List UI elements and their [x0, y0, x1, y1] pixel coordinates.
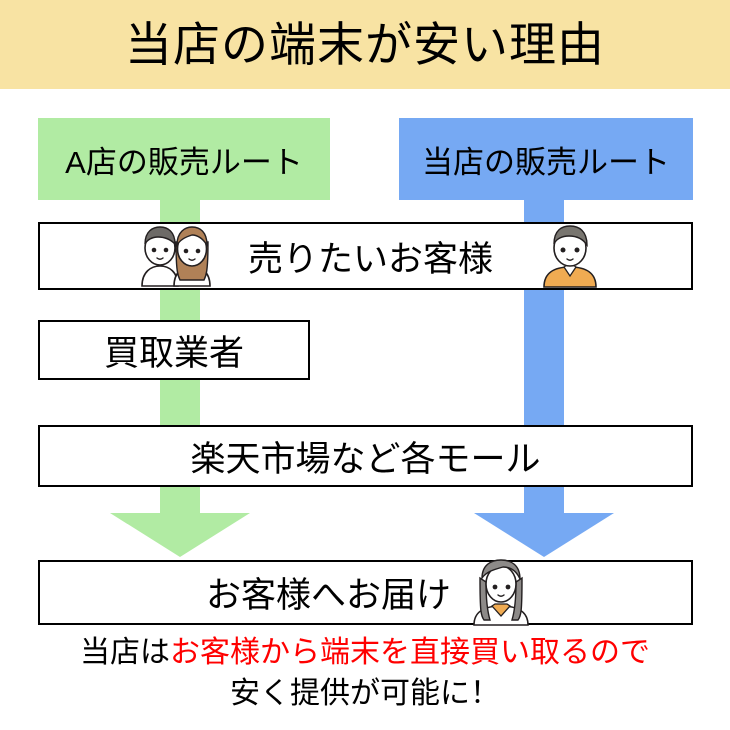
green-arrow-shaft-4	[160, 486, 200, 513]
blue-arrow-head-icon	[474, 513, 614, 557]
route-label-our-shop-text: 当店の販売ルート	[422, 137, 670, 182]
route-label-a-shop: A店の販売ルート	[38, 118, 330, 200]
caption-prefix: 当店は	[80, 636, 170, 669]
two-people-icon	[128, 224, 224, 293]
green-arrow-shaft-3	[160, 379, 200, 426]
caption: 当店はお客様から端末を直接買い取るので 安く提供が可能に！	[0, 632, 730, 715]
title-banner: 当店の端末が安い理由	[0, 0, 730, 89]
step-label-customers: 売りたいお客様	[248, 231, 493, 282]
caption-line-2: 安く提供が可能に！	[0, 673, 730, 714]
route-label-a-shop-text: A店の販売ルート	[65, 137, 303, 182]
step-label-buyer: 買取業者	[104, 325, 244, 376]
blue-arrow-shaft-3	[524, 486, 564, 513]
man-icon	[538, 224, 602, 293]
caption-line-1: 当店はお客様から端末を直接買い取るので	[0, 632, 730, 673]
page-title: 当店の端末が安い理由	[125, 21, 605, 68]
infographic-canvas: 当店の端末が安い理由 A店の販売ルート 当店の販売ルート 売りたいお客様	[0, 0, 730, 730]
green-arrow-shaft-1	[160, 199, 200, 223]
green-arrow-head-icon	[110, 513, 250, 557]
step-box-buyer: 買取業者	[38, 320, 310, 380]
woman-icon	[470, 558, 532, 631]
caption-highlight: お客様から端末を直接買い取るので	[170, 636, 650, 669]
step-label-delivery: お客様へお届け	[206, 567, 451, 618]
blue-arrow-shaft-1	[524, 199, 564, 223]
blue-arrow-shaft-2	[524, 288, 564, 426]
step-box-mall: 楽天市場など各モール	[38, 425, 693, 487]
step-label-mall: 楽天市場など各モール	[190, 431, 540, 482]
step-box-delivery: お客様へお届け	[38, 560, 693, 625]
route-label-our-shop: 当店の販売ルート	[399, 118, 693, 200]
